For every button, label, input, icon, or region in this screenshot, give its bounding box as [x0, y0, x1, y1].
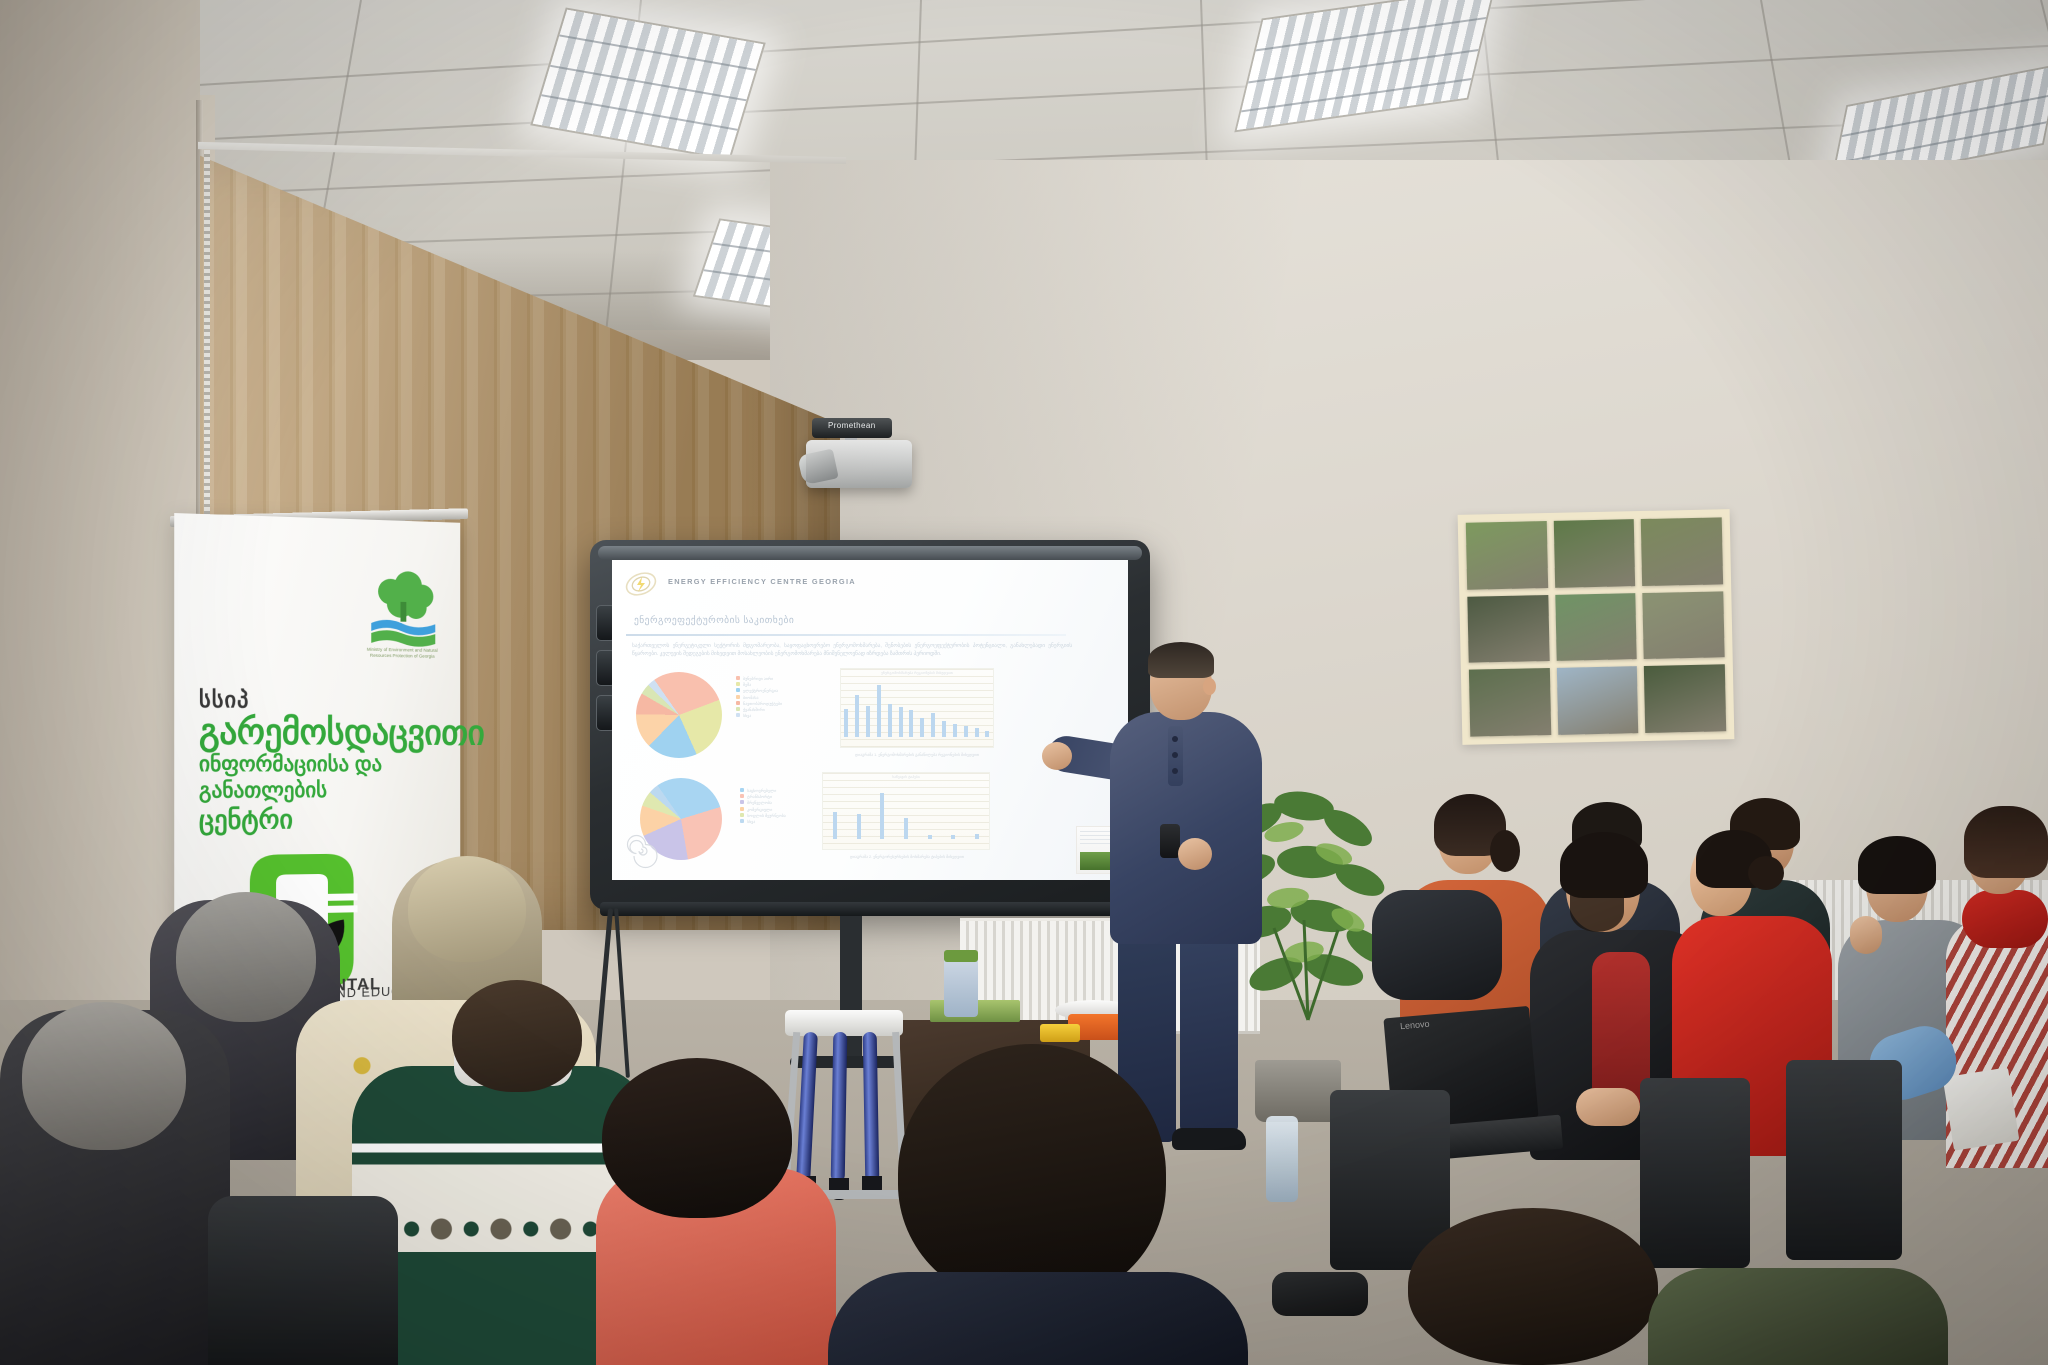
yellow-model-vehicle	[1040, 1024, 1080, 1042]
audience-shoe-right	[1272, 1272, 1368, 1316]
bar	[833, 812, 837, 839]
bar	[975, 834, 979, 840]
solar-evacuated-tube-3	[863, 1032, 880, 1182]
audience-foreground-right-shoulder	[1648, 1268, 1948, 1365]
plant-pot	[1255, 1060, 1341, 1122]
bar	[942, 721, 946, 737]
bar	[899, 707, 903, 737]
pie-chart-1	[636, 672, 722, 758]
solar-collector-header	[785, 1010, 903, 1036]
aerial-rocky-outcrop	[1641, 517, 1723, 585]
banner-line-2: გარემოსდაცვითი	[199, 713, 445, 752]
chair-foreground-left[interactable]	[208, 1196, 398, 1365]
presenter-ear	[1203, 678, 1216, 695]
audience-beard	[1570, 890, 1624, 932]
bar	[951, 835, 955, 839]
audience-hair-woman-striped	[1964, 806, 2048, 878]
bar-chart-1-caption: დიაგრამა 1. ენერგომოხმარების განაწილება …	[822, 752, 1012, 757]
aerial-green-hills	[1466, 521, 1548, 589]
slide-heading: ენერგოეფექტურობის საკითხები	[634, 615, 794, 626]
slide-divider	[626, 634, 1066, 636]
bar	[904, 818, 908, 839]
nature-photo-grid	[1458, 509, 1735, 745]
presenter-sweater	[1110, 712, 1262, 944]
mountain-slope	[1469, 668, 1551, 736]
slide-org-header: ENERGY EFFICIENCY CENTRE GEORGIA	[668, 577, 856, 586]
projected-slide: ENERGY EFFICIENCY CENTRE GEORGIA ენერგოე…	[612, 560, 1128, 880]
whiteboard-top-rail	[598, 546, 1142, 560]
audience-hair-man-grey	[1858, 836, 1936, 894]
legend-item: სხვა	[736, 713, 782, 719]
aerial-rock-formation	[1553, 519, 1635, 587]
audience-hair-man-leather-jacket	[1560, 832, 1648, 898]
audience-head-grey-haired-man	[176, 892, 316, 1022]
presenter-shoe	[1172, 1128, 1246, 1150]
banner-line-4: ცენტრი	[199, 803, 445, 835]
legend-item: სხვა	[740, 819, 786, 825]
bar	[880, 793, 884, 839]
chair-right-3[interactable]	[1786, 1060, 1902, 1260]
presenter-hair	[1148, 642, 1214, 678]
bar	[985, 731, 989, 737]
banner-text-block: სსიპ გარემოსდაცვითი ინფორმაციისა და განა…	[199, 687, 445, 835]
audience-head-nordic-man	[452, 980, 582, 1092]
audience-hand-on-chin	[1850, 916, 1882, 954]
mineral-deposits	[1644, 665, 1726, 733]
tree-and-water-logo	[367, 565, 439, 650]
bar	[866, 706, 870, 737]
banner-line-3: ინფორმაციისა და განათლების	[199, 752, 445, 805]
glass-jar	[944, 955, 978, 1017]
bar	[964, 726, 968, 737]
water-bottle	[1266, 1116, 1298, 1202]
audience-foreground-dark-hair	[898, 1044, 1166, 1304]
seminar-room-scene: Promethean ENERGY EFFICIENCY CENTRE GEOR…	[0, 0, 2048, 1365]
chair-right-2[interactable]	[1640, 1078, 1750, 1268]
slide-paragraph: საქართველოს ენერგეტიკული სექტორის მდგომა…	[632, 642, 1072, 658]
bar	[953, 724, 957, 737]
bar	[975, 728, 979, 737]
waterfall-cascade	[1557, 666, 1639, 734]
bar-chart-2: საწვავის ტიპები	[822, 772, 990, 850]
pie-chart-2-legend: საცხოვრებელიტრანსპორტიმრეწველობაკომერციუ…	[740, 788, 786, 825]
jar-cap	[944, 950, 978, 962]
spiral-watermark	[618, 828, 664, 874]
blinds-pull-chain[interactable]	[204, 150, 210, 550]
bar-chart-2-caption: დიაგრამა 2. ენერგორესურსების მოხმარება ტ…	[812, 854, 1002, 859]
whiteboard-pen-tray	[600, 902, 1140, 916]
bar	[931, 713, 935, 737]
presenter-leg-right	[1180, 936, 1238, 1134]
bar	[920, 718, 924, 737]
banner-line-1: სსიპ	[199, 687, 445, 715]
forest-canopy-texture	[1467, 595, 1549, 663]
swirl-energy-logo	[624, 569, 658, 599]
audience-hair-bun	[1748, 856, 1784, 890]
presenter-quarter-zip-placket	[1168, 726, 1183, 786]
lichen-rock-texture	[1643, 591, 1725, 659]
presenter-remote-clicker[interactable]	[1160, 824, 1180, 858]
presenter-pointing-hand	[1042, 742, 1072, 770]
audience-head-blonde	[408, 856, 526, 962]
audience-red-scarf	[1962, 890, 2048, 948]
bar-chart-1-bars	[841, 668, 993, 737]
bar	[877, 685, 881, 737]
projector-shading	[806, 440, 912, 488]
audience-draped-coat-dark	[1372, 890, 1502, 1000]
audience-hands-clasped	[1576, 1088, 1640, 1126]
bar	[888, 704, 892, 737]
bar	[857, 814, 861, 839]
bar	[909, 710, 913, 737]
audience-ponytail	[1490, 830, 1520, 872]
audience-foreground-shoulders	[828, 1272, 1248, 1365]
bar-chart-2-bars	[823, 772, 989, 839]
meandering-river	[1555, 593, 1637, 661]
presenter-hand-holding-remote	[1178, 838, 1212, 870]
projector-brand-label: Promethean	[828, 421, 876, 430]
audience-notebook[interactable]	[1943, 1067, 2020, 1150]
audience-head-left-grey	[22, 1002, 186, 1150]
bar	[928, 835, 932, 840]
audience-head-coral-woman	[602, 1058, 792, 1218]
legend-item: ელექტროენერგია	[736, 688, 782, 694]
pie-chart-1-legend: ბუნებრივი აირიშეშაელექტროენერგიაბიომასან…	[736, 676, 782, 719]
bar	[855, 695, 859, 737]
solar-evacuated-tube-2	[831, 1032, 848, 1182]
bar	[844, 709, 848, 737]
ministry-caption: Ministry of Environment and Natural Reso…	[363, 647, 441, 661]
audience-foreground-right-head	[1408, 1208, 1658, 1365]
bar-chart-1: ენერგომოხმარება რეგიონების მიხედვით	[840, 668, 994, 748]
